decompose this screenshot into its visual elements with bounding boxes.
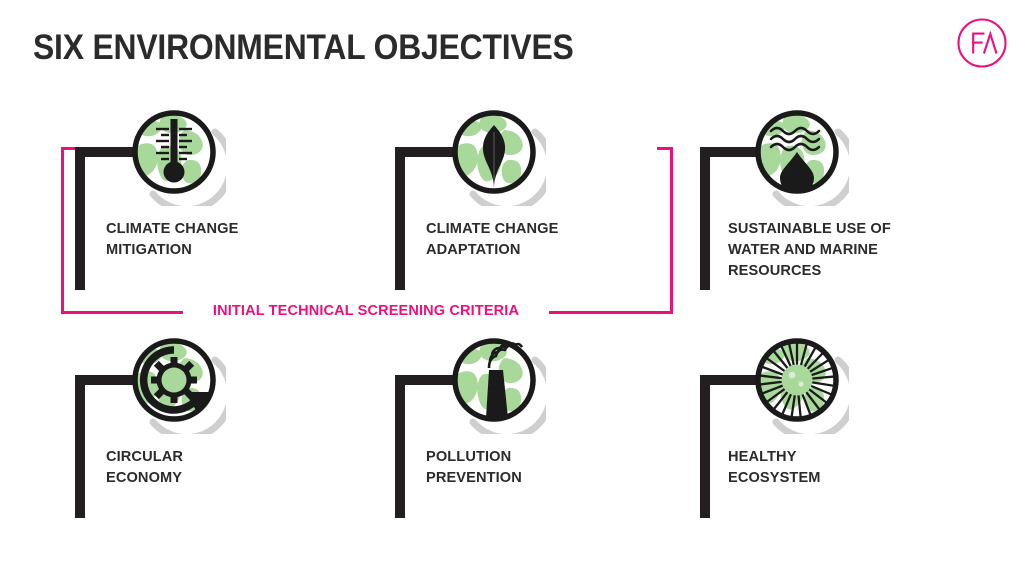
objective-card-5[interactable]: POLLUTION PREVENTION [320,228,660,548]
objective-card-6[interactable]: HEALTHY ECOSYSTEM [615,228,1015,548]
objective-card-4[interactable]: CIRCULAR ECONOMY [0,228,340,548]
leaf-globe-icon [442,102,546,206]
objective-label-4: CIRCULAR ECONOMY [106,447,321,489]
recycle-gear-globe-icon [122,330,226,434]
smokestack-globe-icon [442,330,546,434]
objective-label-6: HEALTHY ECOSYSTEM [728,447,943,489]
bracket-4-riser [75,375,85,518]
bracket-5-riser [395,375,405,518]
sunburst-ecosystem-globe-icon [745,330,849,434]
bracket-6-riser [700,375,710,518]
water-droplet-globe-icon [745,102,849,206]
infographic-canvas: SIX ENVIRONMENTAL OBJECTIVES INITIAL TEC… [0,0,1024,578]
thermometer-globe-icon [122,102,226,206]
objective-label-5: POLLUTION PREVENTION [426,447,641,489]
